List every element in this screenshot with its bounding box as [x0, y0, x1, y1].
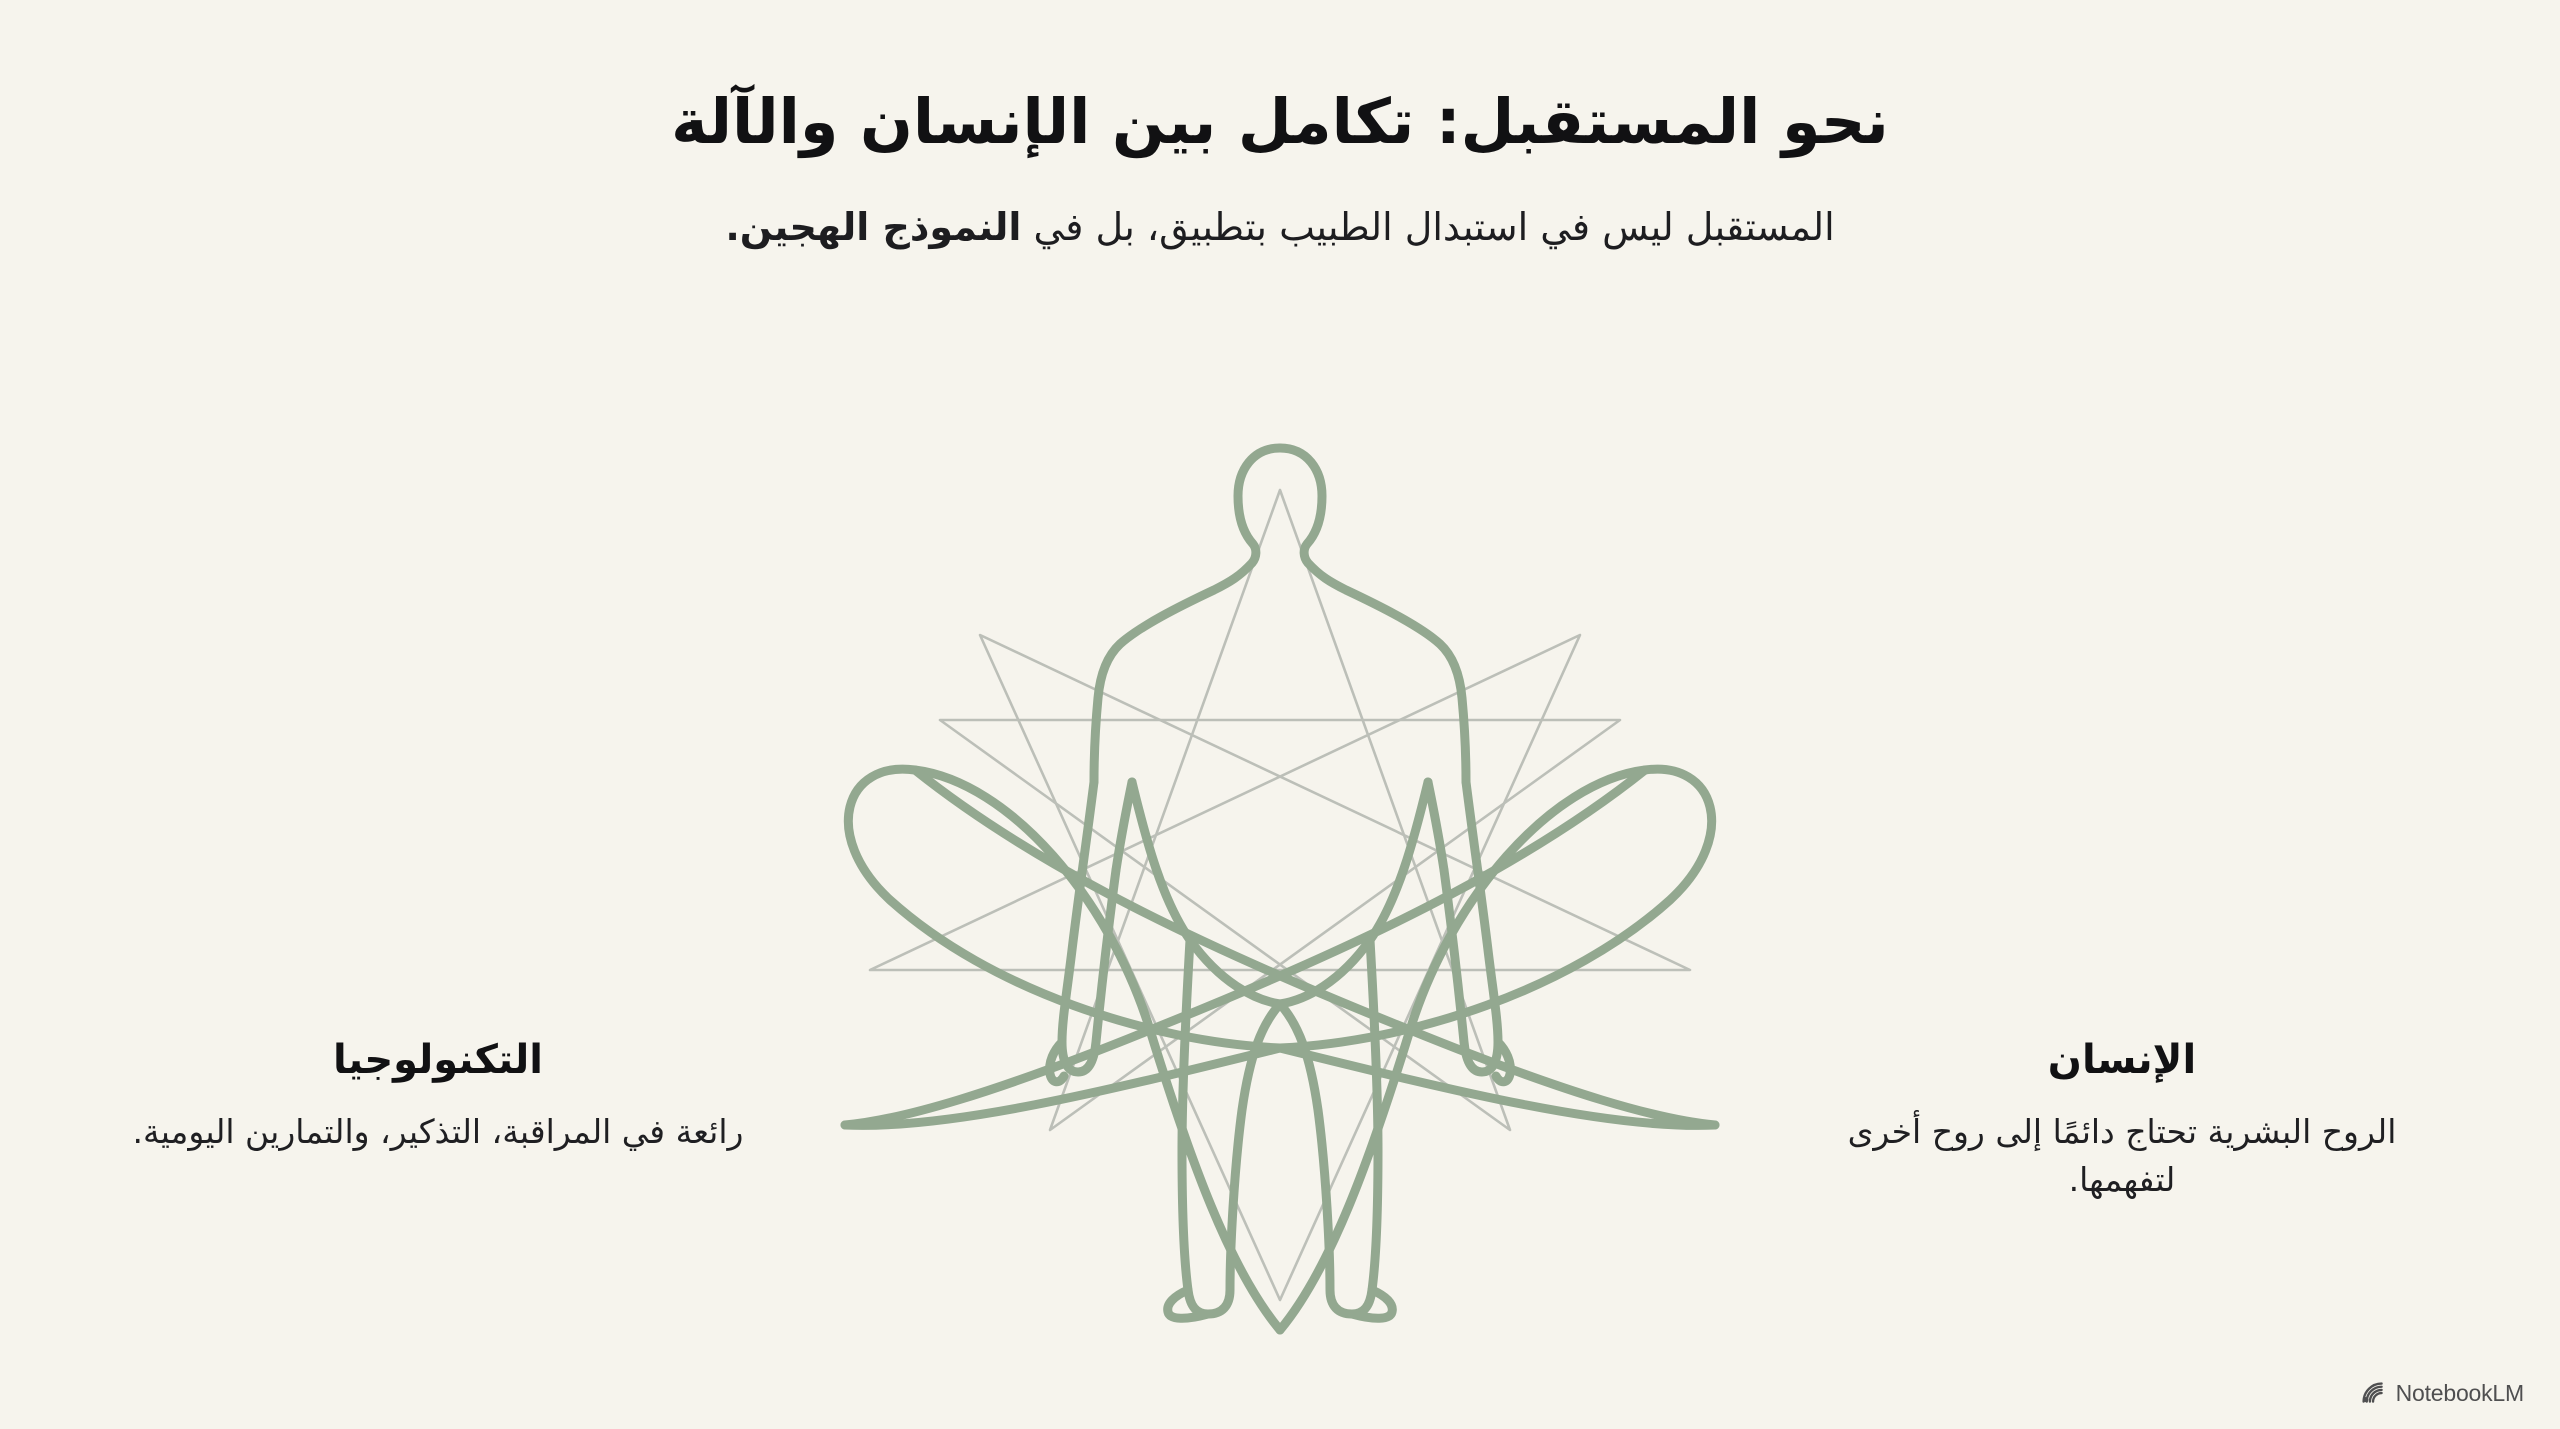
subtitle-emphasis-text: النموذج الهجين. [725, 205, 1021, 249]
notebooklm-label: NotebookLM [2396, 1380, 2524, 1407]
central-illustration [810, 430, 1750, 1360]
page-subtitle: المستقبل ليس في استبدال الطبيب بتطبيق، ب… [725, 201, 1834, 254]
green-star-curves-icon [845, 769, 1715, 1330]
column-human-title: الإنسان [1812, 1036, 2432, 1084]
notebooklm-icon-dot [2363, 1397, 2368, 1402]
notebooklm-spiral-icon [2360, 1380, 2387, 1407]
grey-star-polygon-icon [870, 490, 1690, 1300]
column-human-body: الروح البشرية تحتاج دائمًا إلى روح أخرى … [1812, 1108, 2432, 1204]
page-title: نحو المستقبل: تكامل بين الإنسان والآلة [671, 86, 1889, 157]
notebooklm-watermark: NotebookLM [2360, 1380, 2524, 1407]
column-technology-body: رائعة في المراقبة، التذكير، والتمارين ال… [128, 1108, 748, 1156]
column-technology-title: التكنولوجيا [128, 1036, 748, 1084]
illustration-svg [810, 430, 1750, 1360]
slide-root: نحو المستقبل: تكامل بين الإنسان والآلة ا… [0, 0, 2560, 1429]
human-figure-icon [1050, 448, 1511, 1318]
subtitle-plain-text: المستقبل ليس في استبدال الطبيب بتطبيق، ب… [1021, 205, 1834, 249]
column-human: الإنسان الروح البشرية تحتاج دائمًا إلى ر… [1812, 1036, 2432, 1204]
column-technology: التكنولوجيا رائعة في المراقبة، التذكير، … [128, 1036, 748, 1156]
